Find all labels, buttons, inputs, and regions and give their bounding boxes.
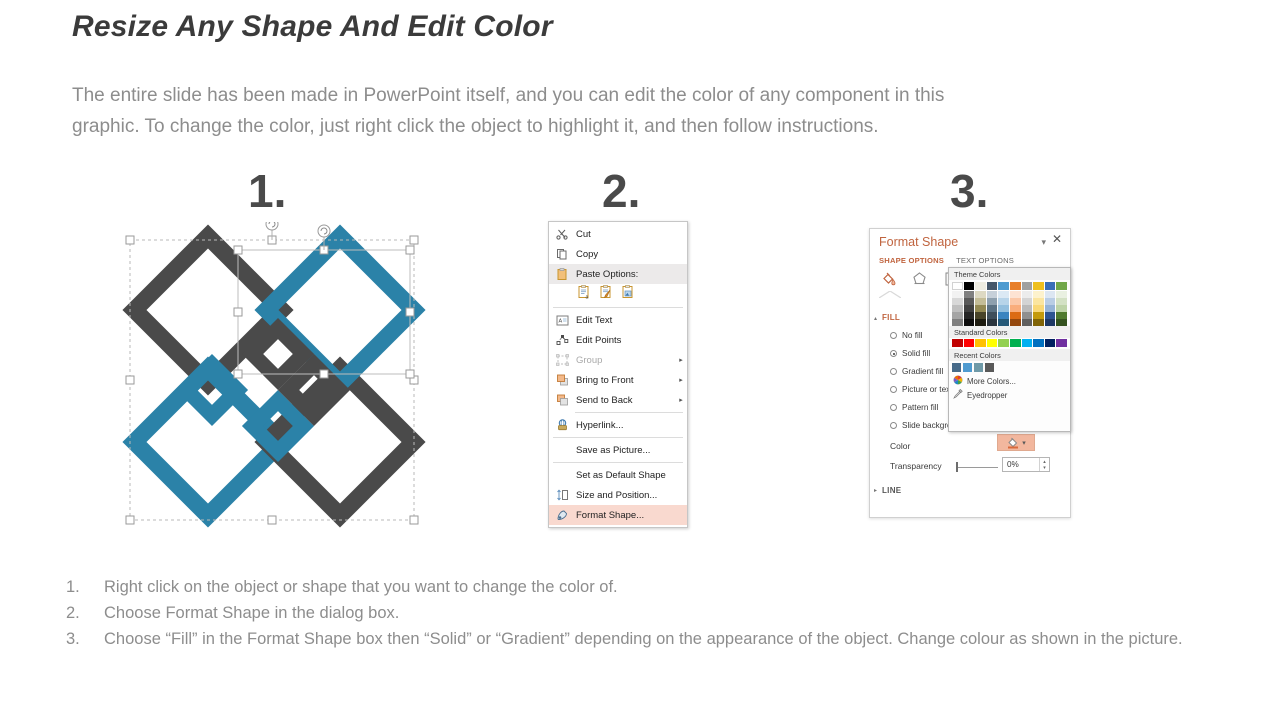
menu-item-paste-options: Paste Options:: [549, 264, 687, 284]
theme-shade-swatch-4-4[interactable]: [998, 319, 1009, 326]
theme-shade-swatch-2-4[interactable]: [998, 305, 1009, 312]
menu-item-bring-to-front[interactable]: Bring to Front ▸: [549, 370, 687, 390]
color-wheel-icon: [953, 375, 963, 387]
theme-shade-swatch-1-4[interactable]: [998, 298, 1009, 305]
theme-shade-swatch-3-1[interactable]: [964, 312, 975, 319]
color-picker-flyout[interactable]: Theme Colors Standard Colors Recent Colo…: [948, 267, 1071, 432]
shape-illustration-panel[interactable]: [120, 222, 430, 530]
paste-keep-text-icon[interactable]: a: [577, 285, 591, 302]
theme-shade-swatch-1-7[interactable]: [1033, 298, 1044, 305]
theme-shade-swatch-1-6[interactable]: [1022, 298, 1033, 305]
theme-shade-swatch-4-2[interactable]: [975, 319, 986, 326]
menu-item-copy-label: Copy: [573, 249, 687, 260]
step-number-3: 3.: [950, 168, 988, 214]
theme-color-swatch-1[interactable]: [964, 282, 975, 290]
theme-shade-swatch-0-7[interactable]: [1033, 291, 1044, 298]
theme-color-swatch-9[interactable]: [1056, 282, 1067, 290]
radio-no-fill[interactable]: No fill: [890, 331, 922, 340]
theme-shade-swatch-1-9[interactable]: [1056, 298, 1067, 305]
theme-color-swatch-7[interactable]: [1033, 282, 1044, 290]
theme-shade-row-3[interactable]: [949, 312, 1070, 319]
theme-shade-swatch-0-4[interactable]: [998, 291, 1009, 298]
theme-shade-swatch-1-1[interactable]: [964, 298, 975, 305]
theme-shade-swatch-1-3[interactable]: [987, 298, 998, 305]
theme-shade-swatch-1-0[interactable]: [952, 298, 963, 305]
radio-gradient-fill-label: Gradient fill: [902, 367, 943, 376]
menu-item-size-and-position-label: Size and Position...: [573, 490, 687, 501]
theme-shade-row-0[interactable]: [949, 291, 1070, 298]
color-field-label: Color: [890, 441, 910, 451]
recent-colors-row[interactable]: [949, 361, 1070, 374]
menu-item-format-shape-label: Format Shape...: [573, 510, 687, 521]
spinner-arrows[interactable]: ▴ ▾: [1039, 458, 1049, 471]
menu-item-save-as-picture[interactable]: Save as Picture...: [549, 440, 687, 460]
theme-shade-swatch-1-2[interactable]: [975, 298, 986, 305]
theme-shade-swatch-0-3[interactable]: [987, 291, 998, 298]
menu-item-copy[interactable]: Copy: [549, 244, 687, 264]
instruction-text: Choose Format Shape in the dialog box.: [104, 600, 1271, 626]
theme-shade-swatch-2-7[interactable]: [1033, 305, 1044, 312]
standard-color-swatch-8[interactable]: [1045, 339, 1056, 347]
theme-color-swatch-0[interactable]: [952, 282, 963, 290]
theme-shade-swatch-4-8[interactable]: [1045, 319, 1056, 326]
theme-shade-swatch-0-2[interactable]: [975, 291, 986, 298]
recent-color-swatch-3[interactable]: [985, 363, 994, 372]
menu-item-hyperlink-label: Hyperlink...: [573, 420, 687, 431]
format-shape-tabs[interactable]: SHAPE OPTIONS TEXT OPTIONS: [879, 256, 1014, 265]
menu-item-cut-label: Cut: [573, 229, 687, 240]
standard-color-swatch-7[interactable]: [1033, 339, 1044, 347]
instruction-number: 1.: [66, 574, 104, 600]
page-subtitle: The entire slide has been made in PowerP…: [72, 80, 1212, 142]
copy-icon: [551, 246, 573, 262]
menu-separator-4: [553, 462, 683, 463]
clipboard-icon: [551, 266, 573, 282]
theme-shade-swatch-0-8[interactable]: [1045, 291, 1056, 298]
theme-shade-swatch-3-2[interactable]: [975, 312, 986, 319]
fill-bucket-icon[interactable]: [880, 271, 897, 289]
active-tab-underline: [879, 291, 901, 298]
tab-shape-options[interactable]: SHAPE OPTIONS: [879, 256, 944, 265]
instruction-text: Right click on the object or shape that …: [104, 574, 1271, 600]
standard-color-swatch-6[interactable]: [1022, 339, 1033, 347]
theme-shade-row-4[interactable]: [949, 319, 1070, 326]
theme-shade-swatch-1-8[interactable]: [1045, 298, 1056, 305]
theme-shade-swatch-0-0[interactable]: [952, 291, 963, 298]
eyedropper-action[interactable]: Eyedropper: [949, 388, 1070, 402]
recent-colors-header: Recent Colors: [949, 349, 1070, 361]
theme-shade-swatch-2-5[interactable]: [1010, 305, 1021, 312]
standard-colors-row[interactable]: [949, 338, 1070, 349]
theme-shade-swatch-4-7[interactable]: [1033, 319, 1044, 326]
instruction-item: 3. Choose “Fill” in the Format Shape box…: [66, 626, 1271, 652]
menu-item-edit-points[interactable]: Edit Points: [549, 330, 687, 350]
interlocking-diamonds-graphic[interactable]: [120, 222, 430, 530]
theme-shade-swatch-2-0[interactable]: [952, 305, 963, 312]
color-picker-button[interactable]: ▾: [997, 434, 1035, 451]
theme-shade-swatch-2-6[interactable]: [1022, 305, 1033, 312]
theme-shade-swatch-3-0[interactable]: [952, 312, 963, 319]
radio-solid-fill-label: Solid fill: [902, 349, 930, 358]
theme-shade-swatch-4-9[interactable]: [1056, 319, 1067, 326]
radio-solid-fill-button[interactable]: [890, 350, 897, 357]
theme-shade-swatch-4-3[interactable]: [987, 319, 998, 326]
paste-options-row[interactable]: a: [549, 284, 687, 305]
standard-color-swatch-9[interactable]: [1056, 339, 1067, 347]
edit-points-icon: [551, 332, 573, 348]
theme-shade-swatch-4-5[interactable]: [1010, 319, 1021, 326]
radio-slide-background-fill-button[interactable]: [890, 422, 897, 429]
hyperlink-icon: [551, 417, 573, 433]
chevron-down-icon[interactable]: ▾: [1041, 237, 1046, 248]
standard-color-swatch-0[interactable]: [952, 339, 963, 347]
menu-separator-3: [553, 437, 683, 438]
theme-shade-swatch-0-6[interactable]: [1022, 291, 1033, 298]
menu-item-cut[interactable]: Cut: [549, 224, 687, 244]
theme-shade-swatch-0-5[interactable]: [1010, 291, 1021, 298]
theme-shade-swatch-2-3[interactable]: [987, 305, 998, 312]
menu-item-paste-options-label: Paste Options:: [573, 269, 687, 280]
theme-shade-swatch-2-9[interactable]: [1056, 305, 1067, 312]
transparency-slider-track[interactable]: [958, 467, 998, 468]
tab-text-options[interactable]: TEXT OPTIONS: [956, 256, 1014, 265]
svg-text:A: A: [558, 318, 562, 324]
format-shape-icon: [551, 507, 573, 523]
close-icon[interactable]: ✕: [1052, 233, 1062, 245]
group-icon: [551, 352, 573, 368]
eyedropper-label[interactable]: Eyedropper: [967, 391, 1007, 400]
bring-front-icon: [551, 372, 573, 388]
instructions-list: 1. Right click on the object or shape th…: [66, 574, 1271, 652]
more-colors-action[interactable]: More Colors...: [949, 374, 1070, 388]
radio-pattern-fill-label: Pattern fill: [902, 403, 938, 412]
eyedropper-icon: [953, 389, 963, 401]
menu-item-edit-text[interactable]: A Edit Text: [549, 310, 687, 330]
standard-colors-header: Standard Colors: [949, 326, 1070, 338]
transparency-spinner[interactable]: 0% ▴ ▾: [1002, 457, 1050, 472]
subtitle-line-1: The entire slide has been made in PowerP…: [72, 80, 1212, 111]
theme-color-swatch-8[interactable]: [1045, 282, 1056, 290]
menu-item-send-to-back[interactable]: Send to Back ▸: [549, 390, 687, 410]
theme-shade-swatch-3-7[interactable]: [1033, 312, 1044, 319]
menu-item-hyperlink[interactable]: Hyperlink...: [549, 415, 687, 435]
transparency-label: Transparency: [890, 461, 942, 471]
chevron-down-icon[interactable]: ▾: [1022, 439, 1026, 447]
theme-color-swatch-2[interactable]: [975, 282, 986, 290]
theme-shade-swatch-3-8[interactable]: [1045, 312, 1056, 319]
theme-colors-shade-rows[interactable]: [949, 291, 1070, 326]
theme-color-swatch-4[interactable]: [998, 282, 1009, 290]
recent-color-swatch-0[interactable]: [952, 363, 961, 372]
menu-item-edit-points-label: Edit Points: [573, 335, 687, 346]
diamond-dark-small-top[interactable]: [253, 329, 304, 380]
menu-item-set-default-shape[interactable]: Set as Default Shape: [549, 465, 687, 485]
menu-separator-2: [575, 412, 683, 413]
menu-item-bring-to-front-label: Bring to Front: [573, 375, 675, 386]
instruction-item: 1. Right click on the object or shape th…: [66, 574, 1271, 600]
menu-separator-1: [553, 307, 683, 308]
step-number-2: 2.: [602, 168, 640, 214]
theme-shade-swatch-3-4[interactable]: [998, 312, 1009, 319]
theme-shade-swatch-3-6[interactable]: [1022, 312, 1033, 319]
page-title: Resize Any Shape And Edit Color: [72, 10, 553, 44]
standard-color-swatch-1[interactable]: [964, 339, 975, 347]
instruction-text: Choose “Fill” in the Format Shape box th…: [104, 626, 1271, 652]
transparency-slider-knob[interactable]: [956, 462, 958, 472]
recent-color-swatch-2[interactable]: [974, 363, 983, 372]
fill-bucket-icon: [1006, 436, 1020, 449]
theme-shade-swatch-2-2[interactable]: [975, 305, 986, 312]
menu-item-edit-text-label: Edit Text: [573, 315, 687, 326]
theme-shade-swatch-2-8[interactable]: [1045, 305, 1056, 312]
standard-color-swatch-2[interactable]: [975, 339, 986, 347]
chevron-right-icon: ▸: [675, 396, 687, 404]
chevron-right-icon: ▸: [675, 356, 687, 364]
theme-shade-row-2[interactable]: [949, 305, 1070, 312]
theme-shade-swatch-0-1[interactable]: [964, 291, 975, 298]
theme-color-swatch-3[interactable]: [987, 282, 998, 290]
context-menu[interactable]: Cut Copy Paste Options: a: [548, 221, 688, 528]
effects-pentagon-icon[interactable]: [911, 271, 928, 289]
line-section-header[interactable]: LINE: [882, 486, 901, 495]
step-number-1: 1.: [248, 168, 286, 214]
radio-no-fill-button[interactable]: [890, 332, 897, 339]
spinner-down-icon[interactable]: ▾: [1043, 465, 1046, 471]
theme-shade-swatch-0-9[interactable]: [1056, 291, 1067, 298]
menu-item-group-label: Group: [573, 355, 675, 366]
theme-shade-swatch-4-0[interactable]: [952, 319, 963, 326]
radio-picture-fill-button[interactable]: [890, 386, 897, 393]
size-position-icon: [551, 487, 573, 503]
standard-color-swatch-4[interactable]: [998, 339, 1009, 347]
menu-item-set-default-shape-label: Set as Default Shape: [573, 470, 687, 481]
subtitle-line-2: graphic. To change the color, just right…: [72, 111, 1212, 142]
chevron-right-icon: ▸: [675, 376, 687, 384]
transparency-value[interactable]: 0%: [1003, 460, 1039, 469]
theme-colors-header: Theme Colors: [949, 268, 1070, 280]
theme-shade-swatch-3-9[interactable]: [1056, 312, 1067, 319]
instruction-number: 3.: [66, 626, 104, 652]
no-icon-placeholder: [551, 442, 573, 458]
menu-item-save-as-picture-label: Save as Picture...: [573, 445, 687, 456]
more-colors-label[interactable]: More Colors...: [967, 377, 1016, 386]
paste-keep-formatting-icon[interactable]: [599, 285, 613, 302]
menu-item-send-to-back-label: Send to Back: [573, 395, 675, 406]
theme-color-swatch-6[interactable]: [1022, 282, 1033, 290]
theme-shade-swatch-4-1[interactable]: [964, 319, 975, 326]
theme-shade-swatch-3-3[interactable]: [987, 312, 998, 319]
fill-section-header: FILL: [882, 313, 900, 322]
menu-item-group: Group ▸: [549, 350, 687, 370]
radio-pattern-fill-button[interactable]: [890, 404, 897, 411]
radio-solid-fill[interactable]: Solid fill: [890, 349, 930, 358]
radio-gradient-fill-button[interactable]: [890, 368, 897, 375]
scissors-icon: [551, 226, 573, 242]
format-shape-title: Format Shape: [879, 235, 958, 249]
theme-shade-swatch-2-1[interactable]: [964, 305, 975, 312]
slide-canvas: Resize Any Shape And Edit Color The enti…: [0, 0, 1280, 720]
svg-text:a: a: [586, 295, 589, 301]
theme-shade-row-1[interactable]: [949, 298, 1070, 305]
no-icon-placeholder: [551, 467, 573, 483]
edit-text-icon: A: [551, 312, 573, 328]
theme-colors-base-row[interactable]: [949, 280, 1070, 291]
fill-section-triangle-icon[interactable]: ▴: [874, 315, 877, 322]
radio-pattern-fill[interactable]: Pattern fill: [890, 403, 938, 412]
radio-no-fill-label: No fill: [902, 331, 922, 340]
theme-shade-swatch-4-6[interactable]: [1022, 319, 1033, 326]
theme-shade-swatch-3-5[interactable]: [1010, 312, 1021, 319]
line-section-triangle-icon[interactable]: ▸: [874, 487, 877, 494]
radio-gradient-fill[interactable]: Gradient fill: [890, 367, 943, 376]
menu-item-format-shape[interactable]: Format Shape...: [549, 505, 687, 525]
standard-color-swatch-3[interactable]: [987, 339, 998, 347]
paste-picture-icon[interactable]: [621, 285, 635, 302]
send-back-icon: [551, 392, 573, 408]
standard-color-swatch-5[interactable]: [1010, 339, 1021, 347]
instruction-item: 2. Choose Format Shape in the dialog box…: [66, 600, 1271, 626]
theme-shade-swatch-1-5[interactable]: [1010, 298, 1021, 305]
recent-color-swatch-1[interactable]: [963, 363, 972, 372]
instruction-number: 2.: [66, 600, 104, 626]
theme-color-swatch-5[interactable]: [1010, 282, 1021, 290]
menu-item-size-and-position[interactable]: Size and Position...: [549, 485, 687, 505]
